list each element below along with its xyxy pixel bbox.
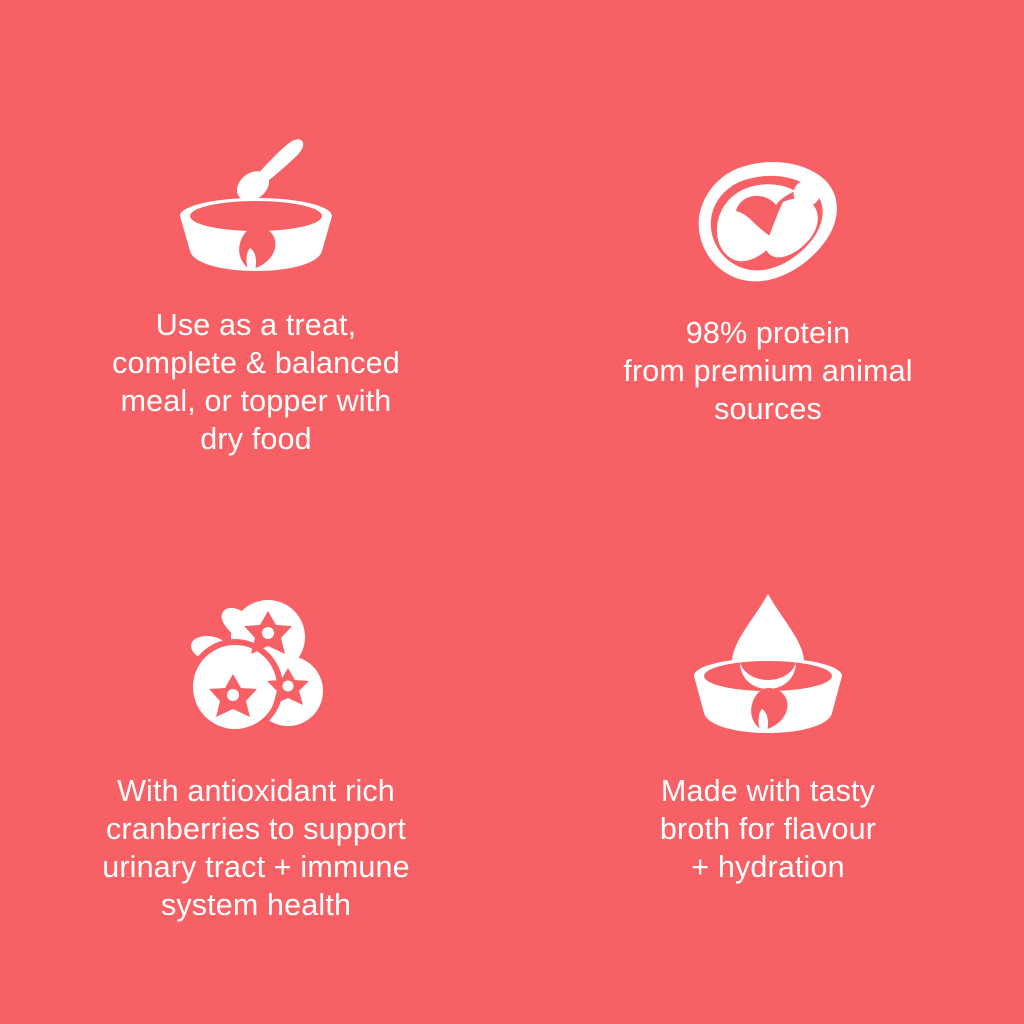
feature-caption: With antioxidant rich cranberries to sup… (102, 772, 410, 924)
meat-steak-icon (688, 160, 848, 288)
feature-caption: 98% protein from premium animal sources (623, 314, 912, 428)
feature-caption: Made with tasty broth for flavour + hydr… (660, 772, 876, 886)
dog-bowl-with-spoon-icon (156, 112, 356, 280)
feature-card-broth: Made with tasty broth for flavour + hydr… (512, 512, 1024, 1024)
feature-caption: Use as a treat, complete & balanced meal… (112, 306, 400, 458)
feature-grid: Use as a treat, complete & balanced meal… (0, 0, 1024, 1024)
cranberries-icon (171, 594, 341, 744)
feature-benefits-panel: Use as a treat, complete & balanced meal… (0, 0, 1024, 1024)
broth-droplet-over-bowl-icon (678, 592, 858, 744)
feature-card-cranberries: With antioxidant rich cranberries to sup… (0, 512, 512, 1024)
feature-card-use-as-treat: Use as a treat, complete & balanced meal… (0, 0, 512, 512)
feature-card-protein: 98% protein from premium animal sources (512, 0, 1024, 512)
